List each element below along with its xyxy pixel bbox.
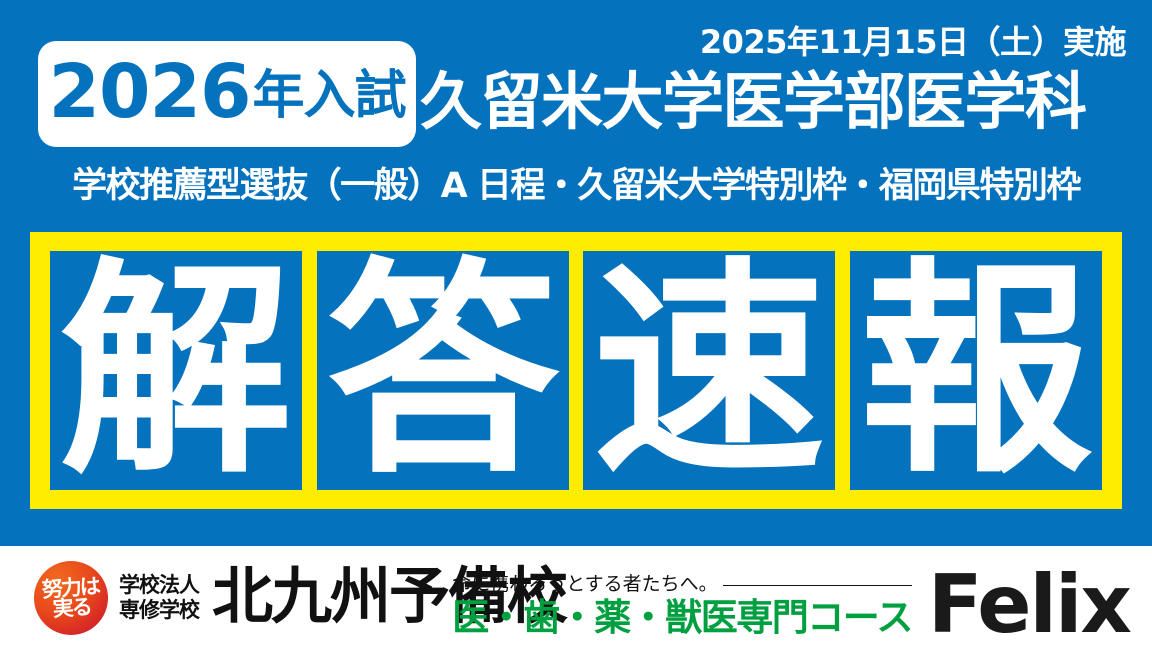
exam-date-text: 2025年11月15日（土）実施 bbox=[700, 26, 1126, 58]
felix-text-group: 命に携わろうとする者たちへ。 医・歯・薬・獣医専門コース bbox=[452, 573, 912, 640]
tagline-divider bbox=[723, 585, 912, 586]
felix-logo-group: 命に携わろうとする者たちへ。 医・歯・薬・獣医専門コース Felix bbox=[452, 556, 1130, 640]
effort-seal-icon: 努力は実る bbox=[34, 561, 108, 635]
footer-bar: 努力は実る 学校法人 専修学校 北九州予備校 命に携わろうとする者たちへ。 医・… bbox=[0, 546, 1152, 648]
felix-brand-name: Felix bbox=[928, 571, 1130, 640]
school-name-title: 久留米大学医学部医学科 bbox=[420, 66, 1086, 137]
felix-tagline: 命に携わろうとする者たちへ。 bbox=[452, 573, 717, 597]
poster-root: 2026年入試 2025年11月15日（土）実施 久留米大学医学部医学科 学校推… bbox=[0, 0, 1152, 648]
headline-character: 答 bbox=[326, 257, 559, 485]
exam-year-suffix: 年入試 bbox=[252, 70, 405, 122]
hero-banner: 2026年入試 2025年11月15日（土）実施 久留米大学医学部医学科 学校推… bbox=[0, 0, 1152, 546]
headline-yellow-band: 解 答 速 報 bbox=[30, 232, 1122, 509]
admission-type-subtitle: 学校推薦型選抜（一般）A 日程・久留米大学特別枠・福岡県特別枠 bbox=[0, 167, 1152, 206]
headline-character: 報 bbox=[860, 257, 1093, 485]
headline-character-box: 報 bbox=[850, 251, 1102, 490]
headline-character: 速 bbox=[593, 257, 826, 485]
exam-year-badge: 2026年入試 bbox=[38, 41, 416, 147]
headline-character-box: 速 bbox=[583, 251, 835, 490]
headline-character: 解 bbox=[60, 257, 293, 485]
felix-course-label: 医・歯・薬・獣医専門コース bbox=[452, 598, 912, 638]
headline-character-box: 解 bbox=[50, 251, 302, 490]
corporate-designation-line1: 学校法人 bbox=[119, 573, 199, 598]
effort-seal-label: 努力は実る bbox=[32, 559, 111, 638]
exam-year-number: 2026 bbox=[49, 55, 251, 129]
corporate-designation: 学校法人 専修学校 bbox=[119, 573, 199, 623]
felix-tagline-row: 命に携わろうとする者たちへ。 bbox=[452, 573, 912, 597]
exam-year-badge-content: 2026年入試 bbox=[38, 41, 416, 147]
headline-character-row: 解 答 速 報 bbox=[50, 251, 1102, 490]
headline-character-box: 答 bbox=[317, 251, 569, 490]
corporate-designation-line2: 専修学校 bbox=[119, 598, 199, 623]
